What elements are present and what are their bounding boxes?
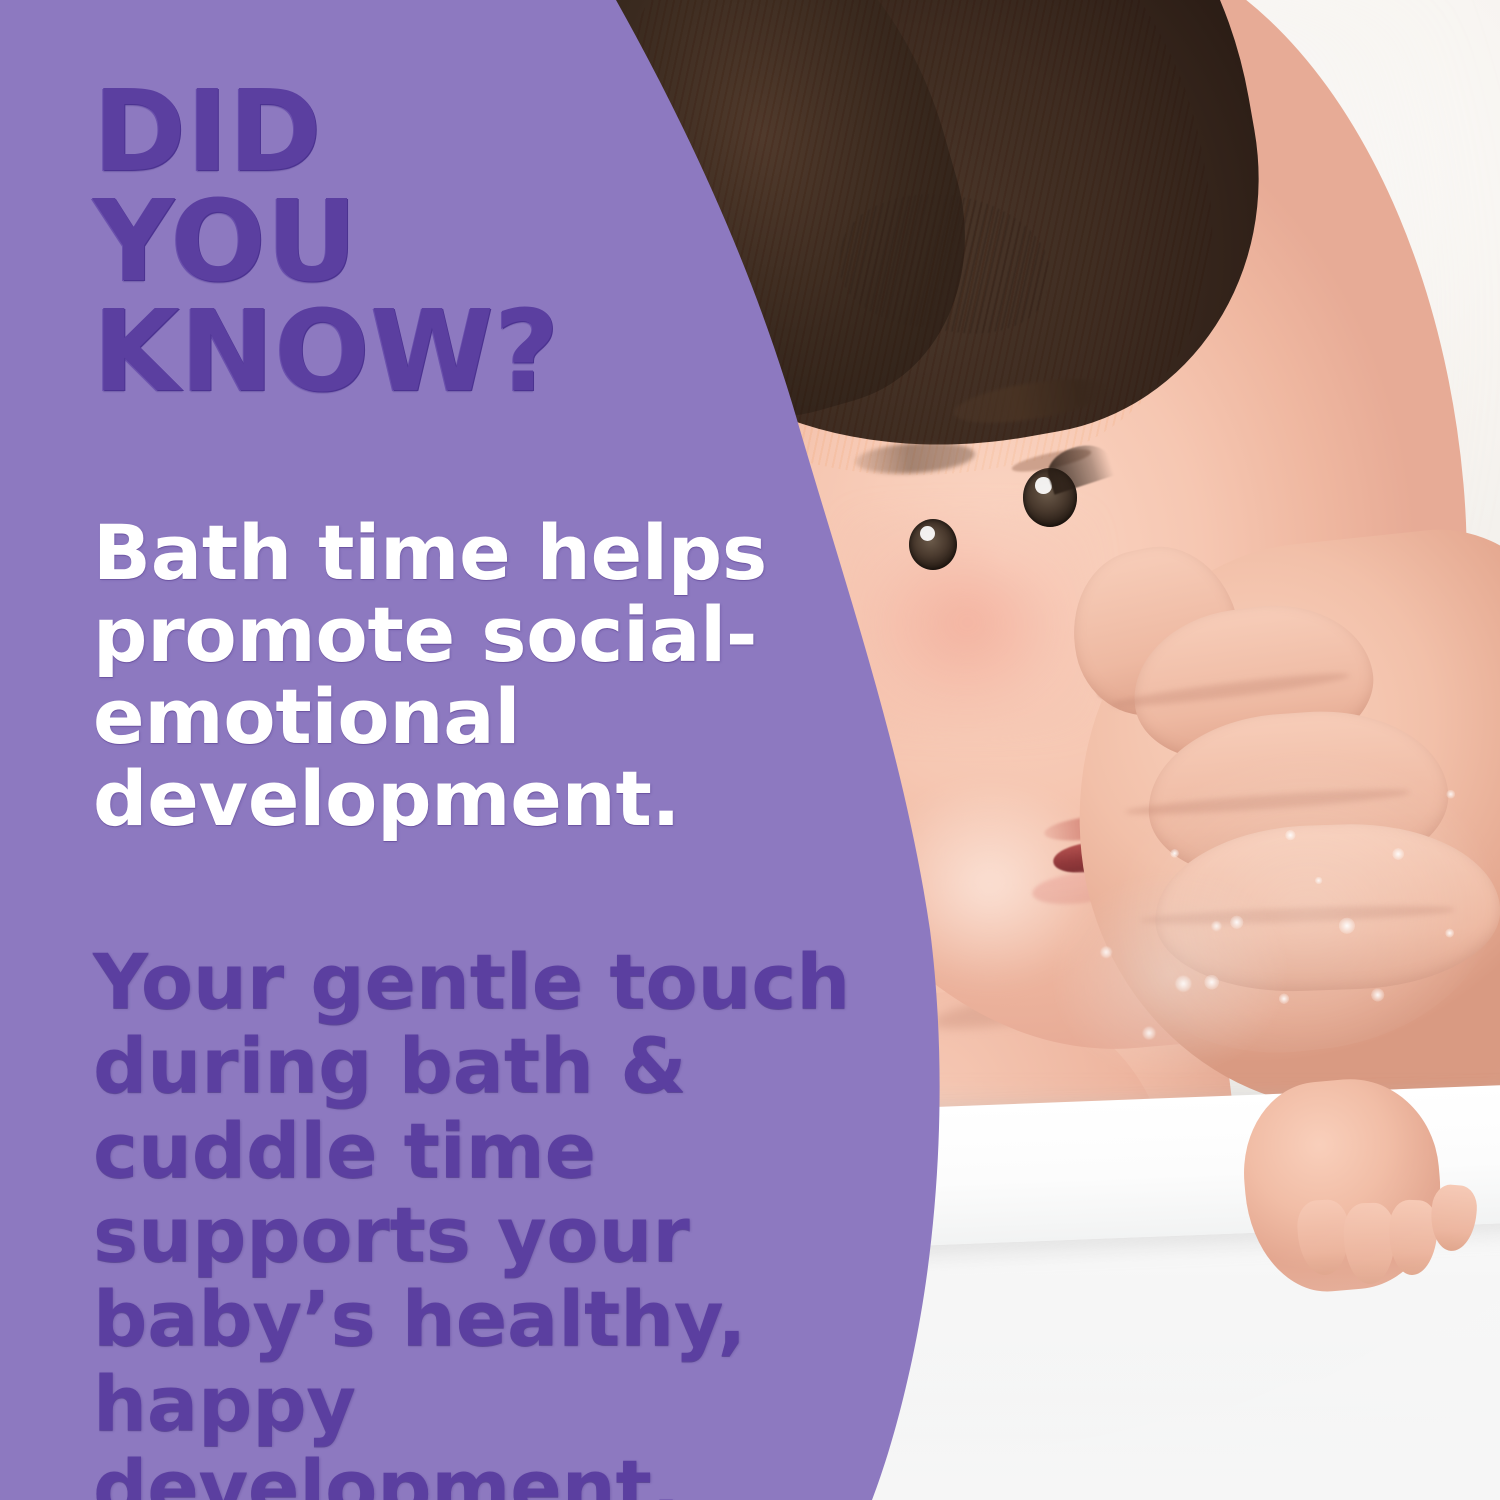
page-title: DID YOU KNOW? — [93, 78, 713, 407]
fact-paragraph-primary: Bath time helps promote social-emotional… — [93, 512, 793, 840]
infographic-canvas: DID YOU KNOW? Bath time helps promote so… — [0, 0, 1500, 1500]
fact-paragraph-secondary: Your gentle touch during bath & cuddle t… — [93, 940, 923, 1500]
